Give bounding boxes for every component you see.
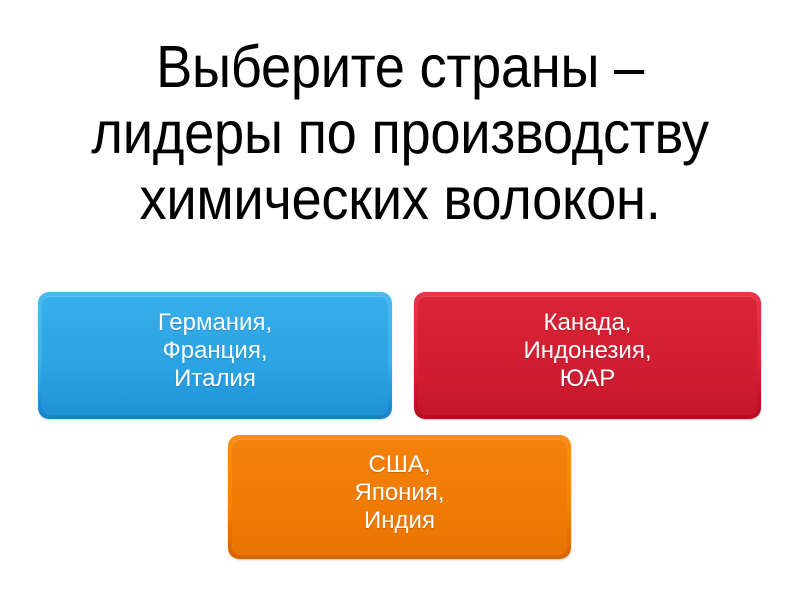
- answer-option-red[interactable]: Канада, Индонезия, ЮАР: [414, 292, 761, 419]
- answer-option-red-line-3: ЮАР: [560, 365, 615, 393]
- answer-option-orange-face: США, Япония, Индия: [232, 439, 567, 555]
- answer-option-orange-line-1: США,: [368, 451, 430, 479]
- answer-option-blue-line-2: Франция,: [162, 337, 267, 365]
- answer-options-group: Германия, Франция, Италия Канада, Индоне…: [0, 0, 800, 600]
- answer-option-blue-line-1: Германия,: [158, 309, 272, 337]
- answer-option-blue[interactable]: Германия, Франция, Италия: [38, 292, 392, 419]
- answer-option-blue-face: Германия, Франция, Италия: [42, 296, 388, 415]
- answer-option-red-face: Канада, Индонезия, ЮАР: [418, 296, 757, 415]
- answer-option-orange[interactable]: США, Япония, Индия: [228, 435, 571, 559]
- answer-option-orange-line-3: Индия: [364, 507, 435, 535]
- answer-option-orange-line-2: Япония,: [355, 479, 445, 507]
- answer-option-red-line-1: Канада,: [544, 309, 632, 337]
- answer-option-blue-line-3: Италия: [174, 365, 256, 393]
- quiz-slide: Выберите страны – лидеры по производству…: [0, 0, 800, 600]
- answer-option-red-line-2: Индонезия,: [523, 337, 651, 365]
